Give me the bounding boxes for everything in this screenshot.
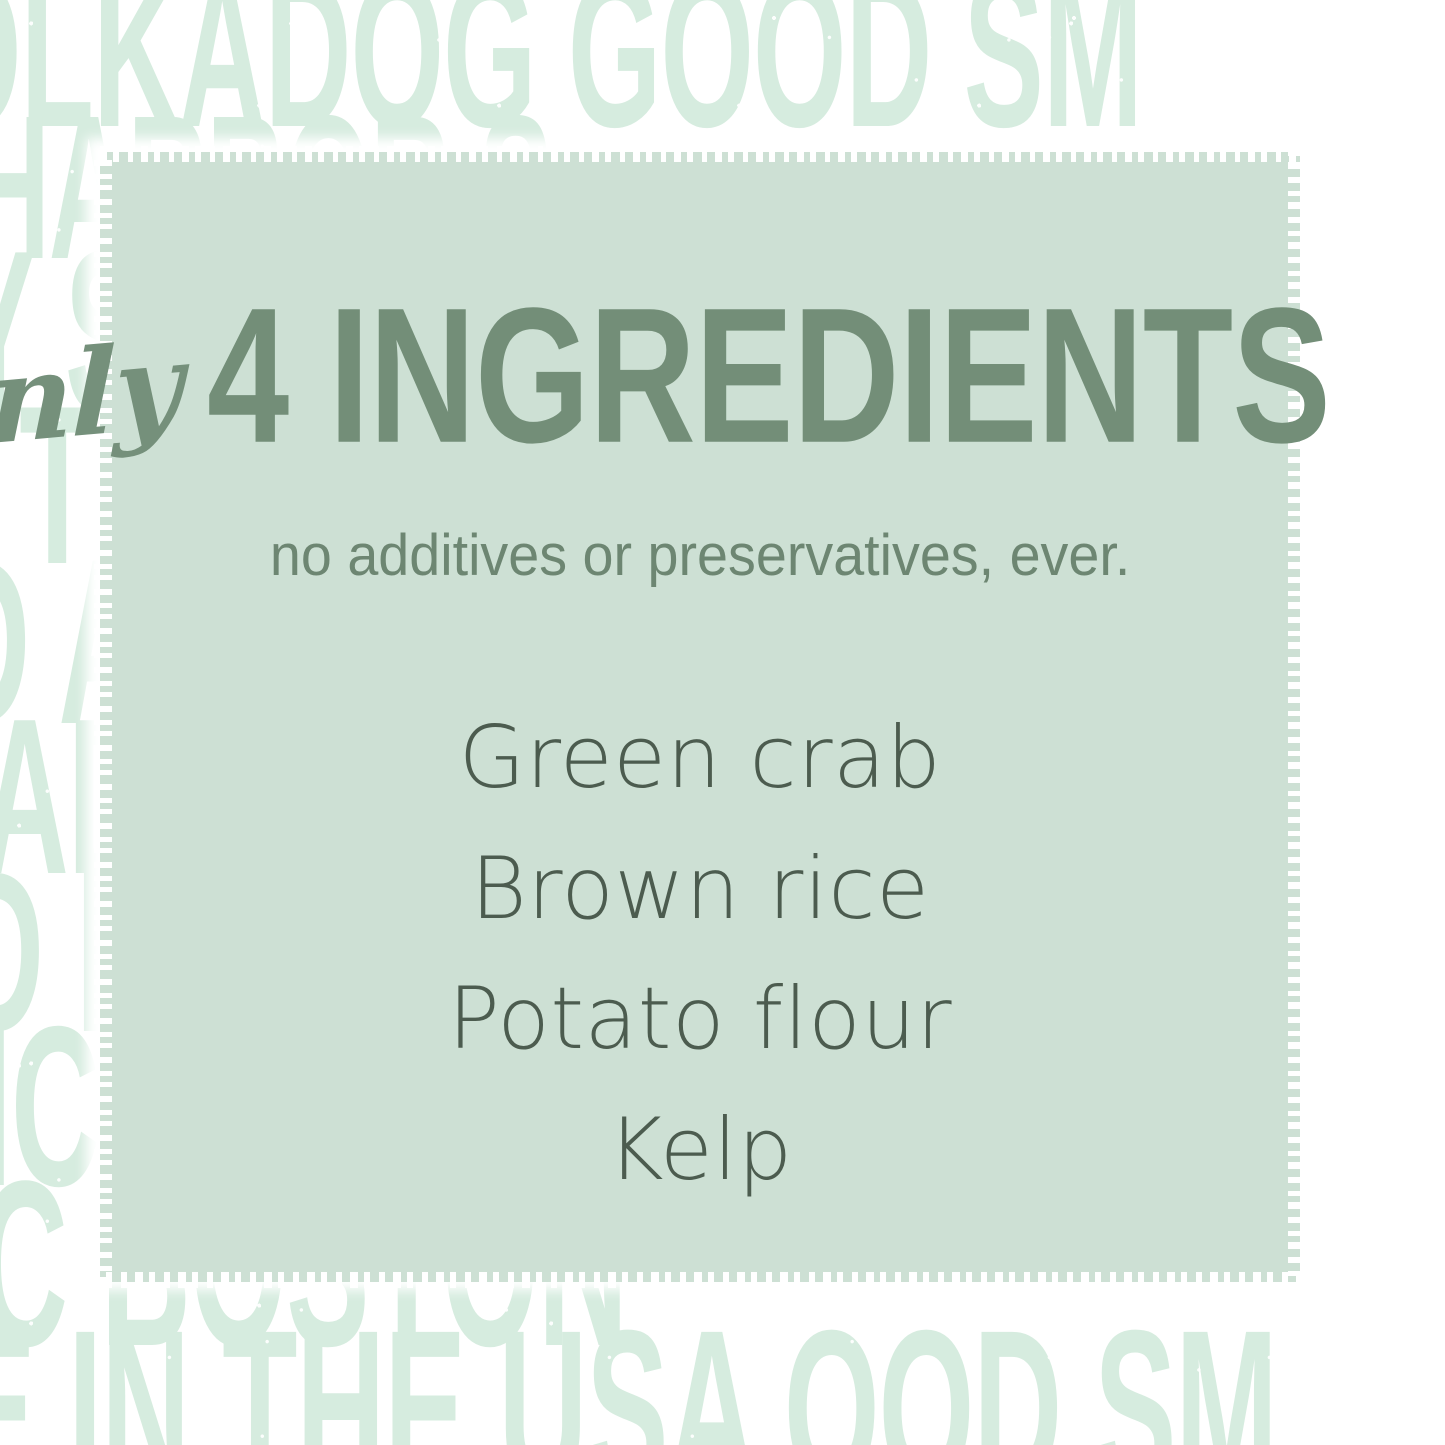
watermark-row: OLKADOG GOOD SM [0, 0, 1142, 140]
watermark-row: DE IN THE USA OOD SM [0, 1318, 1277, 1445]
subheadline: no additives or preservatives, ever. [270, 522, 1130, 589]
headline-script-word: Only [0, 326, 182, 470]
headline-main-text: 4 INGREDIENTS [207, 279, 1330, 472]
card-content: Only 4 INGREDIENTS no additives or prese… [100, 152, 1300, 1282]
ingredient-item: Brown rice [470, 824, 929, 955]
ingredients-poster: OLKADOG GOOD SM HARBOR S ITY SKS S S TH … [0, 0, 1445, 1445]
headline: Only 4 INGREDIENTS [100, 300, 1300, 486]
ingredient-list: Green crab Brown rice Potato flour Kelp [100, 693, 1300, 1216]
ingredient-item: Kelp [607, 1085, 793, 1216]
ingredient-item: Green crab [459, 693, 942, 824]
ingredient-item: Potato flour [448, 954, 952, 1085]
